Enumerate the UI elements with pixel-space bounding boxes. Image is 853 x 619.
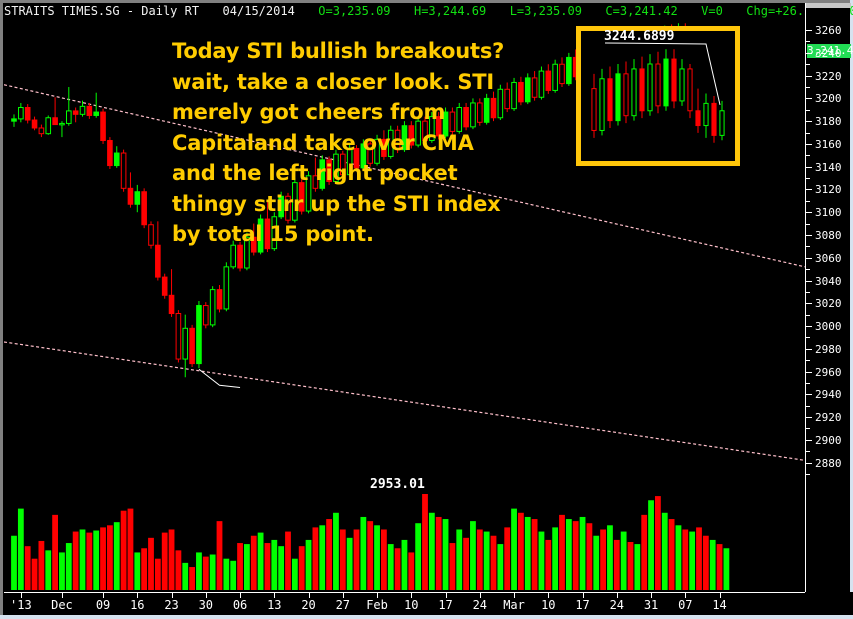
date-tick-label: 23	[164, 599, 178, 611]
price-tick-minor	[806, 428, 810, 429]
price-tick-label: 2900	[815, 435, 842, 446]
price-tick-label: 2980	[815, 344, 842, 355]
price-tick-minor	[806, 178, 810, 179]
price-tick-label: 2940	[815, 389, 842, 400]
price-tick-minor	[806, 269, 810, 270]
price-tick	[806, 349, 812, 350]
price-tick-label: 3080	[815, 230, 842, 241]
price-tick-label: 3160	[815, 139, 842, 150]
date-tick-label: 31	[644, 599, 658, 611]
price-tick	[806, 326, 812, 327]
trendline-price-label: 2953.01	[370, 478, 425, 491]
price-tick-minor	[806, 337, 810, 338]
price-tick-label: 3040	[815, 276, 842, 287]
date-tick-label: 20	[301, 599, 315, 611]
price-tick-label: 3060	[815, 253, 842, 264]
price-tick-label: 3120	[815, 184, 842, 195]
date-tick-label: 17	[575, 599, 589, 611]
quote-low: L=3,235.09	[510, 3, 582, 20]
price-tick-label: 3020	[815, 298, 842, 309]
price-tick-label: 2880	[815, 458, 842, 469]
price-tick-minor	[806, 224, 810, 225]
price-tick	[806, 121, 812, 122]
quote-header-bar: STRAITS TIMES.SG - Daily RT 04/15/2014 O…	[4, 3, 804, 20]
price-tick	[806, 372, 812, 373]
price-tick-minor	[806, 474, 810, 475]
price-tick-label: 2920	[815, 412, 842, 423]
axis-top-cap	[806, 3, 851, 8]
date-tick-label: 09	[96, 599, 110, 611]
price-tick-minor	[806, 87, 810, 88]
price-tick	[806, 303, 812, 304]
date-tick-label: '13	[10, 599, 32, 611]
date-tick-label: 24	[473, 599, 487, 611]
price-tick-label: 2960	[815, 367, 842, 378]
price-tick-label: 3200	[815, 93, 842, 104]
inset-candlestick-plot	[581, 31, 735, 161]
date-tick-label: Dec	[51, 599, 73, 611]
price-tick	[806, 30, 812, 31]
window-frame-left	[0, 0, 3, 619]
price-tick	[806, 463, 812, 464]
price-tick	[806, 189, 812, 190]
inset-price-label: 3244.6899	[604, 30, 674, 43]
price-tick	[806, 144, 812, 145]
price-tick	[806, 167, 812, 168]
date-tick-label: 30	[199, 599, 213, 611]
date-tick-label: 10	[404, 599, 418, 611]
date-tick-label: Mar	[503, 599, 525, 611]
price-tick-minor	[806, 246, 810, 247]
date-tick-label: Feb	[366, 599, 388, 611]
window-frame-bottom	[0, 615, 853, 619]
price-tick	[806, 258, 812, 259]
date-tick-label: 16	[130, 599, 144, 611]
date-tick-label: 07	[678, 599, 692, 611]
date-tick-label: 27	[336, 599, 350, 611]
price-tick	[806, 76, 812, 77]
date-tick-label: 06	[233, 599, 247, 611]
date-tick-label: 24	[610, 599, 624, 611]
price-tick-minor	[806, 110, 810, 111]
price-tick-minor	[806, 451, 810, 452]
price-tick-minor	[806, 64, 810, 65]
quote-high: H=3,244.69	[414, 3, 486, 20]
price-tick-label: 3220	[815, 71, 842, 82]
axis-corner	[805, 592, 853, 615]
price-tick-minor	[806, 155, 810, 156]
price-tick-minor	[806, 315, 810, 316]
price-tick	[806, 98, 812, 99]
price-tick-label: 3180	[815, 116, 842, 127]
price-tick-minor	[806, 292, 810, 293]
price-tick-label: 3260	[815, 25, 842, 36]
price-tick	[806, 394, 812, 395]
price-tick	[806, 212, 812, 213]
inset-zoom-box	[576, 26, 740, 166]
quote-date: 04/15/2014	[223, 3, 295, 20]
price-tick	[806, 440, 812, 441]
price-tick	[806, 417, 812, 418]
price-tick-minor	[806, 41, 810, 42]
quote-close: C=3,241.42	[605, 3, 677, 20]
date-tick-label: 17	[438, 599, 452, 611]
price-tick-minor	[806, 201, 810, 202]
price-tick	[806, 53, 812, 54]
price-tick-label: 3240	[815, 48, 842, 59]
date-tick-label: 14	[712, 599, 726, 611]
price-tick-label: 3100	[815, 207, 842, 218]
price-tick-minor	[806, 383, 810, 384]
price-tick-minor	[806, 360, 810, 361]
price-tick-label: 3140	[815, 162, 842, 173]
price-tick-minor	[806, 406, 810, 407]
price-tick-label: 3000	[815, 321, 842, 332]
quote-open: O=3,235.09	[318, 3, 390, 20]
date-tick-label: 10	[541, 599, 555, 611]
price-tick	[806, 281, 812, 282]
price-tick	[806, 235, 812, 236]
date-tick-label: 13	[267, 599, 281, 611]
price-axis[interactable]: 3,241.42 3260324032203200318031603140312…	[805, 3, 850, 592]
date-axis[interactable]: '13Dec0916233006132027Feb101724Mar101724…	[4, 592, 805, 615]
quote-volume: V=0	[701, 3, 723, 20]
symbol-title: STRAITS TIMES.SG - Daily RT	[4, 3, 199, 20]
chart-window: STRAITS TIMES.SG - Daily RT 04/15/2014 O…	[0, 0, 853, 619]
price-tick-minor	[806, 133, 810, 134]
